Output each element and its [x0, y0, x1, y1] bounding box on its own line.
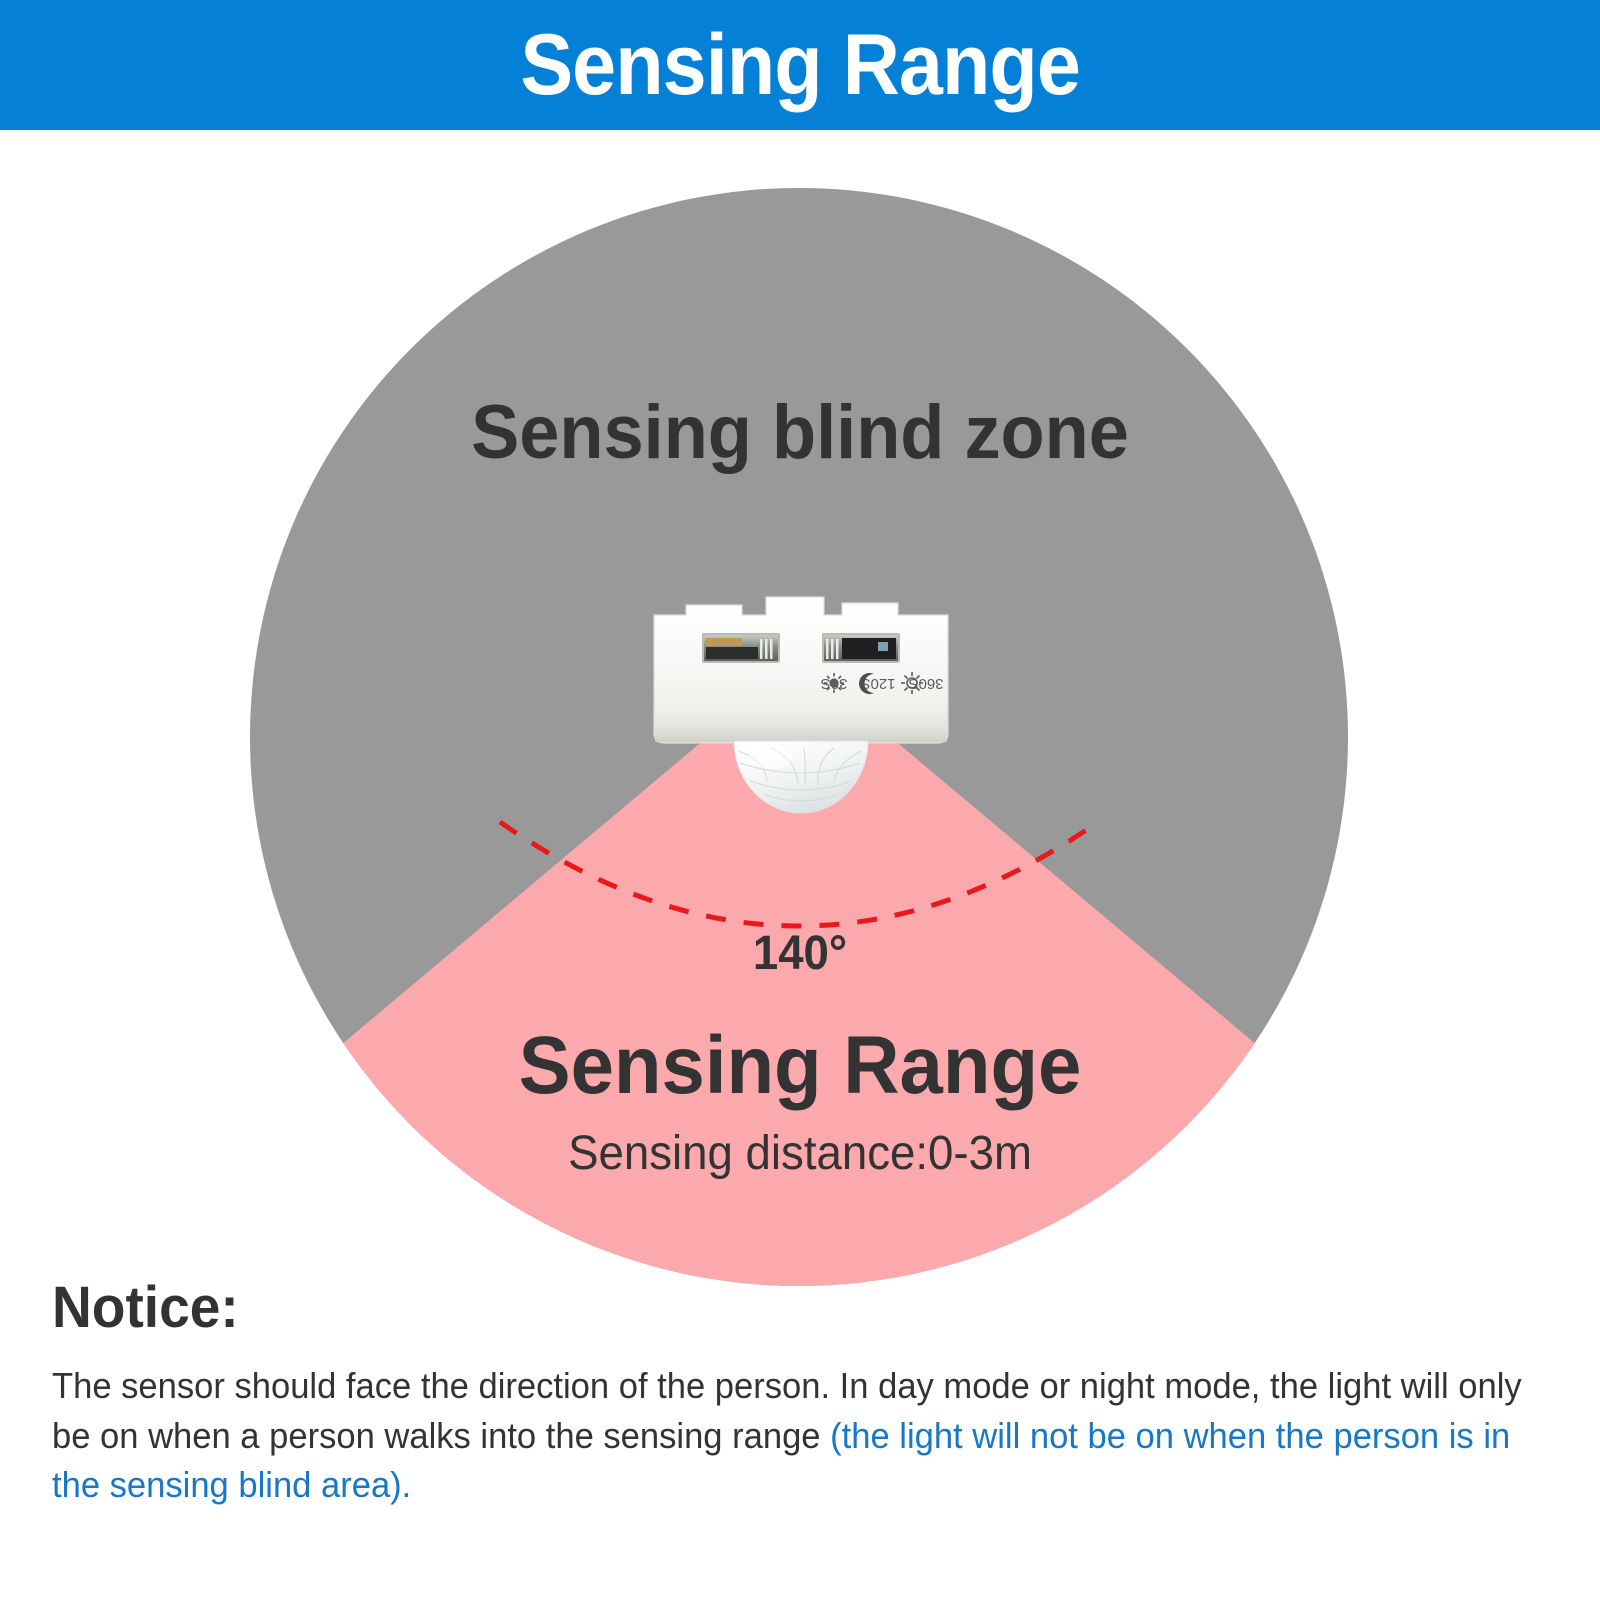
day-sun-icon — [824, 673, 844, 693]
mode-switch-contact — [878, 642, 888, 651]
page-title: Sensing Range — [520, 22, 1080, 108]
timer-switch-contact — [706, 638, 742, 646]
notice-block: Notice: The sensor should face the direc… — [52, 1278, 1552, 1510]
sensing-range-infographic: Sensing Range Sensing blind zone 140° Se… — [0, 0, 1600, 1600]
mode-switch-teeth — [826, 639, 839, 659]
sensor-body-shading — [655, 695, 947, 742]
header-banner: Sensing Range — [0, 0, 1600, 130]
notice-body: The sensor should face the direction of … — [52, 1361, 1550, 1510]
sensing-range-label: Sensing Range — [40, 1025, 1560, 1107]
pir-dome — [734, 741, 868, 813]
notice-line1: The sensor should face the direction of … — [52, 1365, 1449, 1406]
blind-zone-label: Sensing blind zone — [40, 395, 1560, 471]
timer-switch-teeth — [760, 639, 773, 659]
timer-switch-slot — [706, 647, 758, 659]
notice-line2-highlight: (the light will not be on when the — [830, 1415, 1324, 1456]
notice-heading: Notice: — [52, 1278, 1477, 1339]
sensing-angle-label: 140° — [40, 930, 1560, 978]
sensing-distance-label: Sensing distance:0-3m — [40, 1130, 1560, 1178]
sensing-diagram: Sensing blind zone 140° Sensing Range Se… — [0, 130, 1600, 1300]
pir-dome-highlight — [748, 745, 792, 769]
pir-motion-sensor-device: 360S 120S 30S — [646, 585, 956, 815]
